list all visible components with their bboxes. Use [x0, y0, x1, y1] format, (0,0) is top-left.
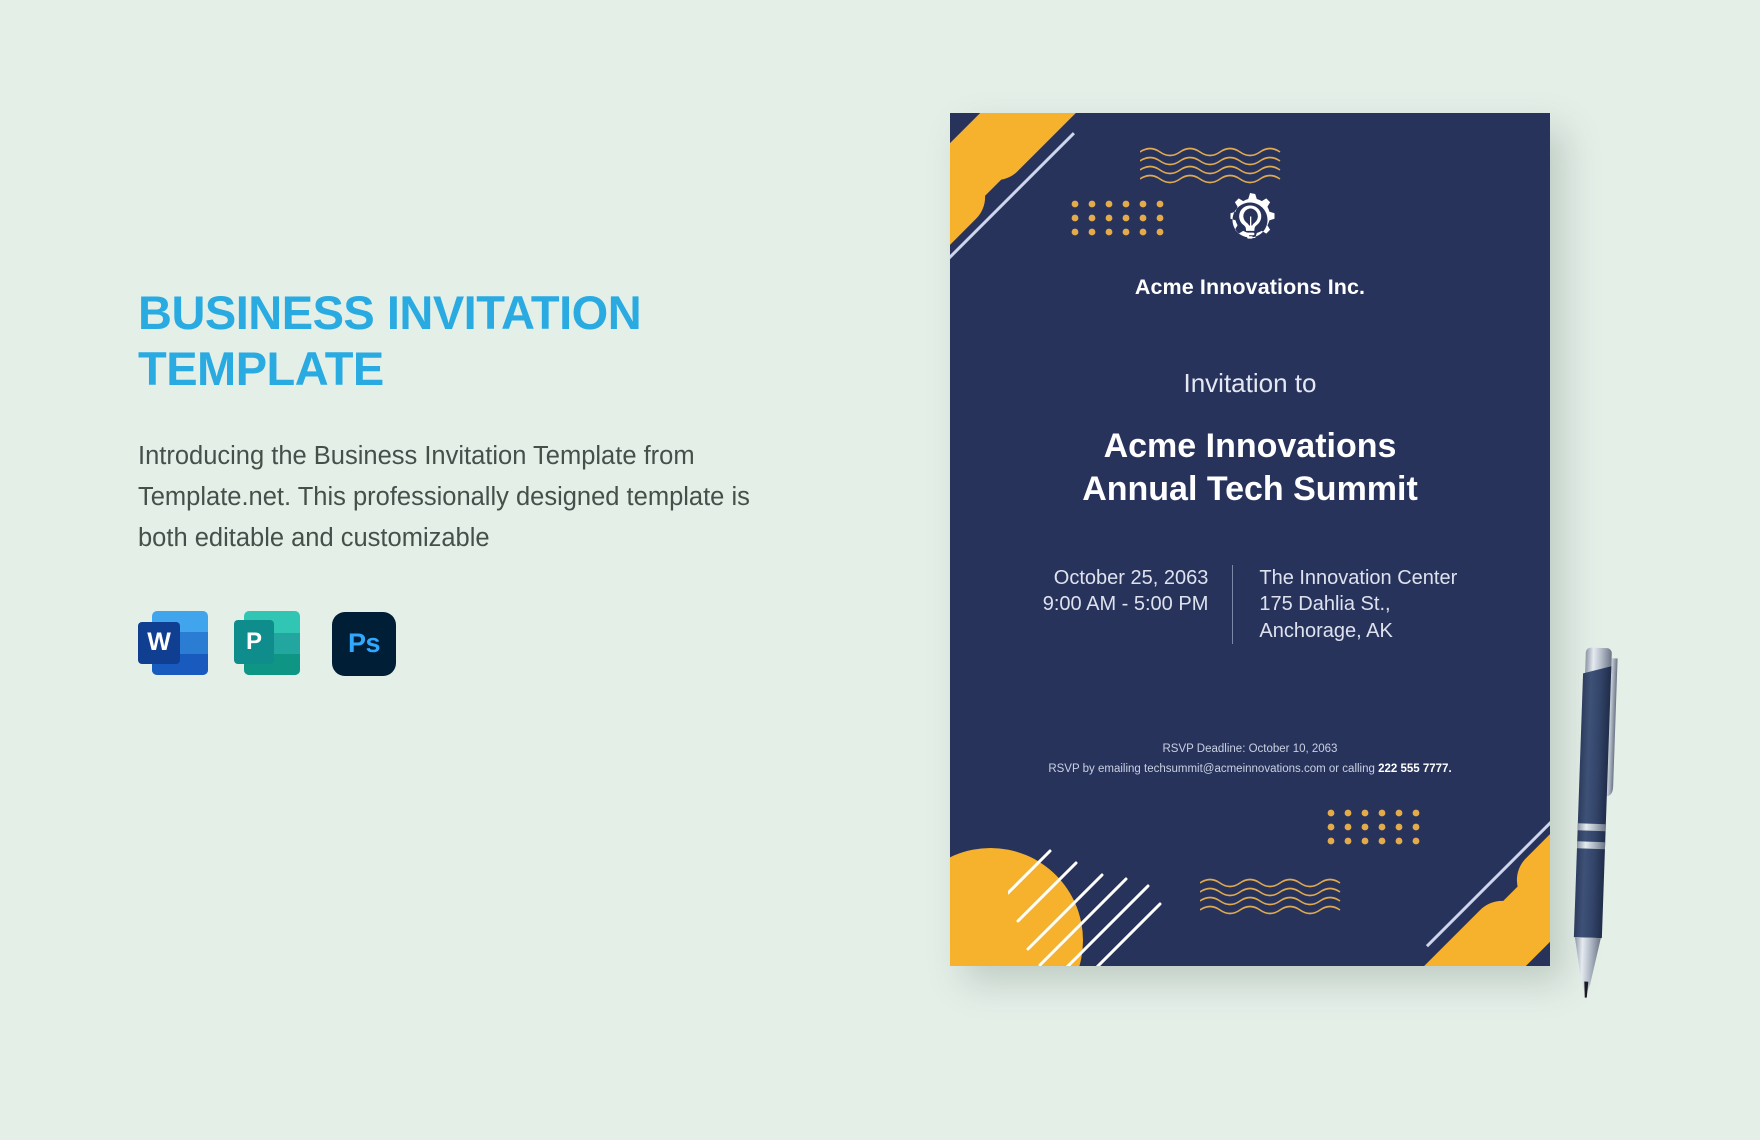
pen-barrel: [1574, 665, 1611, 938]
rsvp-instructions-text: RSVP by emailing techsummit@acmeinnovati…: [1048, 763, 1378, 775]
event-time: 9:00 AM - 5:00 PM: [1043, 591, 1209, 618]
microsoft-word-icon[interactable]: W: [138, 608, 208, 678]
photoshop-icon-letters: Ps: [332, 612, 396, 676]
adobe-photoshop-icon[interactable]: Ps: [330, 608, 400, 678]
venue-street: 175 Dahlia St.,: [1259, 591, 1457, 618]
rsvp-block: RSVP Deadline: October 10, 2063 RSVP by …: [1048, 740, 1451, 779]
ballpoint-pen: [1566, 637, 1635, 1001]
event-date-block: October 25, 2063 9:00 AM - 5:00 PM: [1043, 565, 1233, 618]
pen-tip: [1573, 937, 1601, 998]
event-title-line-2: Annual Tech Summit: [1082, 468, 1418, 511]
page-title: BUSINESS INVITATION TEMPLATE: [138, 285, 798, 398]
event-title: Acme Innovations Annual Tech Summit: [1082, 425, 1418, 511]
event-title-line-1: Acme Innovations: [1082, 425, 1418, 468]
company-name: Acme Innovations Inc.: [1135, 275, 1365, 300]
invitation-to-label: Invitation to: [1184, 368, 1317, 399]
microsoft-publisher-icon[interactable]: P: [234, 608, 304, 678]
rsvp-deadline: RSVP Deadline: October 10, 2063: [1048, 740, 1451, 760]
format-icons-row: W P Ps: [138, 608, 798, 678]
venue-name: The Innovation Center: [1259, 565, 1457, 592]
event-venue-block: The Innovation Center 175 Dahlia St., An…: [1232, 565, 1457, 645]
rsvp-instructions-line: RSVP by emailing techsummit@acmeinnovati…: [1048, 760, 1451, 780]
word-icon-letter: W: [138, 622, 180, 664]
rsvp-phone-number: 222 555 7777.: [1378, 763, 1452, 775]
venue-city: Anchorage, AK: [1259, 618, 1457, 645]
gear-lightbulb-logo-icon: [1218, 191, 1282, 255]
invitation-card-content: Acme Innovations Inc. Invitation to Acme…: [950, 113, 1550, 966]
event-date: October 25, 2063: [1043, 565, 1209, 592]
invitation-card: Acme Innovations Inc. Invitation to Acme…: [950, 113, 1550, 966]
event-details-row: October 25, 2063 9:00 AM - 5:00 PM The I…: [1043, 565, 1458, 645]
template-description: Introducing the Business Invitation Temp…: [138, 436, 798, 560]
publisher-icon-letter: P: [234, 620, 274, 664]
left-info-panel: BUSINESS INVITATION TEMPLATE Introducing…: [138, 285, 798, 678]
